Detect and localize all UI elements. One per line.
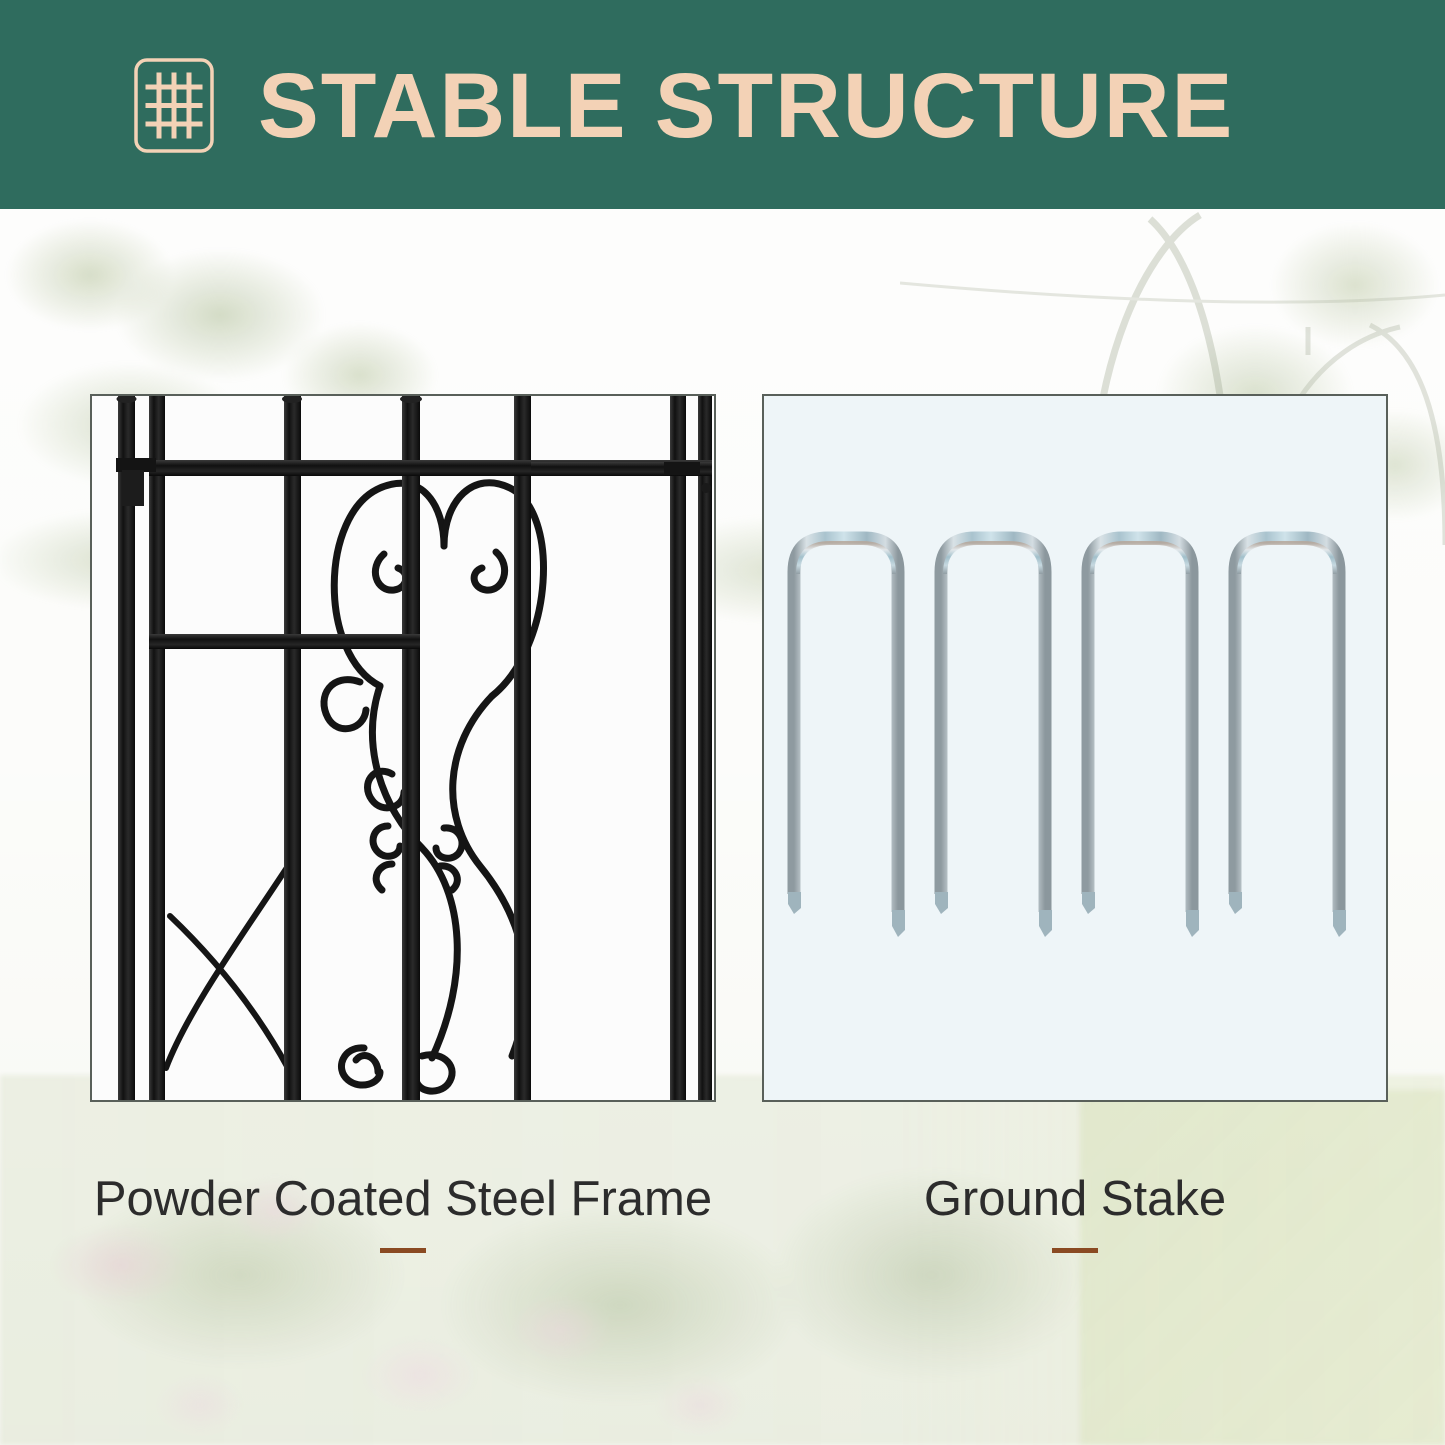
header-banner: STABLE STRUCTURE	[0, 0, 1445, 209]
ground-stakes-illustration	[764, 396, 1386, 1100]
panel-ground-stake	[762, 394, 1388, 1102]
banner-bottom-rule	[0, 207, 1445, 209]
trellis-grid-icon	[133, 57, 215, 154]
background-lawn	[1080, 1090, 1445, 1445]
steel-frame-illustration	[92, 396, 714, 1100]
infographic-page: STABLE STRUCTURE	[0, 0, 1445, 1445]
caption-ground-stake: Ground Stake	[762, 1175, 1388, 1224]
caption-powder-coated-steel-frame: Powder Coated Steel Frame	[90, 1175, 716, 1224]
divider-right	[1052, 1248, 1098, 1253]
page-title: STABLE STRUCTURE	[258, 60, 1234, 152]
panel-powder-coated-steel-frame	[90, 394, 716, 1102]
divider-left	[380, 1248, 426, 1253]
